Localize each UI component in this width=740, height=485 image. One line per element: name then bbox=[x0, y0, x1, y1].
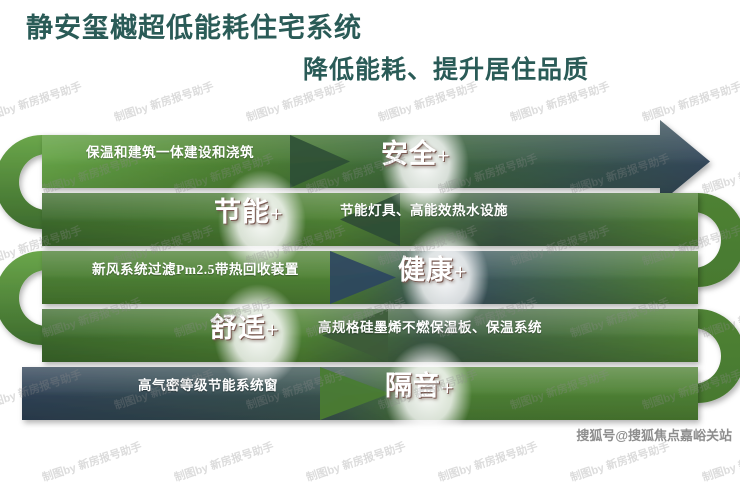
row-5-keyword-text: 隔音 bbox=[385, 371, 441, 401]
watermark-tile: 制图by 新房报号助手 bbox=[40, 438, 144, 485]
row-1-keyword-plus: + bbox=[437, 143, 451, 168]
watermark-tile: 制图by 新房报号助手 bbox=[700, 438, 740, 485]
corner-watermark: 搜狐号@搜狐焦点嘉峪关站 bbox=[576, 425, 732, 444]
watermark-tile: 制图by 新房报号助手 bbox=[304, 438, 408, 485]
row-4-description: 高规格硅墨烯不燃保温板、保温系统 bbox=[318, 316, 542, 336]
watermark-tile: 制图by 新房报号助手 bbox=[568, 438, 672, 485]
row-3-keyword-plus: + bbox=[454, 259, 468, 284]
row-2-keyword-text: 节能 bbox=[214, 197, 270, 227]
watermark-tile: 制图by 新房报号助手 bbox=[172, 438, 276, 485]
page-subtitle: 降低能耗、提升居住品质 bbox=[303, 50, 589, 86]
row-2-description: 节能灯具、高能效热水设施 bbox=[340, 199, 508, 219]
row-5-description: 高气密等级节能系统窗 bbox=[138, 374, 278, 394]
row-2-keyword-plus: + bbox=[270, 201, 284, 226]
process-row-1[interactable] bbox=[42, 120, 710, 203]
row-1-keyword: 安全+ bbox=[381, 132, 451, 171]
row-4-keyword-plus: + bbox=[266, 317, 280, 342]
row-2-keyword: 节能+ bbox=[214, 190, 284, 229]
page-title: 静安玺樾超低能耗住宅系统 bbox=[26, 6, 362, 45]
row-3-keyword-text: 健康 bbox=[398, 255, 454, 285]
row-4-keyword: 舒适+ bbox=[210, 306, 280, 345]
row-1-description: 保温和建筑一体建设和浇筑 bbox=[86, 141, 254, 161]
row-3-keyword: 健康+ bbox=[398, 248, 468, 287]
row-5-keyword-plus: + bbox=[441, 375, 455, 400]
watermark-tile: 制图by 新房报号助手 bbox=[436, 438, 540, 485]
row-1-keyword-text: 安全 bbox=[381, 139, 437, 169]
row-3-description: 新风系统过滤Pm2.5带热回收装置 bbox=[92, 258, 299, 278]
slide-canvas: 静安玺樾超低能耗住宅系统 降低能耗、提升居住品质 bbox=[0, 0, 740, 450]
process-row-5[interactable] bbox=[22, 367, 698, 420]
row-4-keyword-text: 舒适 bbox=[210, 313, 266, 343]
row-5-keyword: 隔音+ bbox=[385, 364, 455, 403]
